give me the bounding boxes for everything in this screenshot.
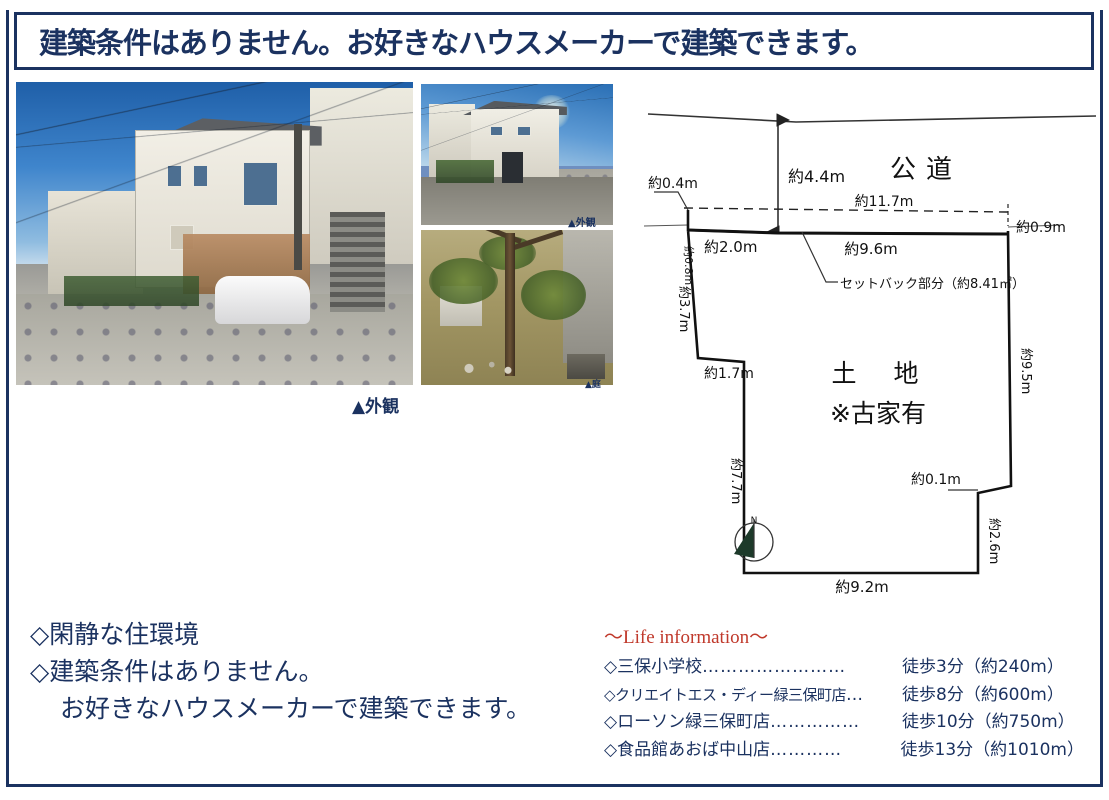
photo-foliage <box>521 270 586 320</box>
life-info-dots: …………… <box>770 709 860 737</box>
feature-item: ◇建築条件はありません。 <box>30 653 570 690</box>
dim-left-step: 約1.7m <box>704 366 754 382</box>
photo-power-lines <box>16 82 413 270</box>
dim-right-vert-lower: 約2.6m <box>986 518 1001 564</box>
life-info-place: ◇クリエイトエス・ディー緑三保町店 <box>604 683 846 707</box>
header-title: 建築条件はありません。お好きなハウスメーカーで建築できます。 <box>39 20 874 62</box>
life-info-row: ◇三保小学校 …………………… 徒歩3分（約240m） <box>604 654 1084 682</box>
dim-left-vert-lower: 約7.7m <box>728 458 743 504</box>
page-border-left <box>6 10 9 787</box>
life-info-row: ◇ローソン緑三保町店 …………… 徒歩10分（約750m） <box>604 709 1084 737</box>
page-border-right <box>1100 10 1103 787</box>
site-plan-diagram: N 公道 約4.4m 約11.7m 約0.4m 約0.8m 約2.0m 約9.6… <box>626 86 1096 606</box>
feature-item: ◇閑静な住環境 <box>30 616 570 653</box>
features-list: ◇閑静な住環境 ◇建築条件はありません。 お好きなハウスメーカーで建築できます。 <box>30 616 570 727</box>
label-public-road: 公道 <box>890 155 962 185</box>
life-info-place: ◇ローソン緑三保町店 <box>604 709 770 737</box>
life-info-place: ◇食品館あおば中山店 <box>604 737 770 765</box>
dim-right-top-vert: 約0.9m <box>1016 220 1066 236</box>
header-banner: 建築条件はありません。お好きなハウスメーカーで建築できます。 <box>14 12 1094 70</box>
caption-exterior-front: ▲外観 <box>568 214 596 229</box>
dim-left-upper-vert: 約0.8m <box>682 246 696 285</box>
dim-front-right: 約9.6m <box>844 240 897 258</box>
life-info-dots: ………… <box>770 737 842 765</box>
life-info-walk-time: 徒歩3分（約240m） <box>902 654 1084 682</box>
flyer-page: 建築条件はありません。お好きなハウスメーカーで建築できます。 ▲外観 <box>0 0 1109 800</box>
dim-leader-04 <box>654 192 688 210</box>
photo-hedge <box>64 276 199 306</box>
caption-exterior-main: ▲外観 <box>352 392 399 417</box>
dim-front-left: 約2.0m <box>704 238 757 256</box>
life-info-walk-time: 徒歩8分（約600m） <box>902 682 1084 710</box>
photo-power-lines <box>421 84 613 171</box>
page-border-bottom <box>6 784 1103 787</box>
photo-garden-view <box>421 230 613 385</box>
label-setback: セットバック部分（約8.41㎡） <box>840 277 1025 292</box>
life-info-place: ◇三保小学校 <box>604 654 702 682</box>
setback-dashed-line <box>684 208 1008 212</box>
label-land-line1: 土 地 <box>831 359 924 388</box>
life-information-title: ～Life information～ <box>604 622 1084 649</box>
photo-tree-trunk <box>505 233 515 376</box>
dim-road-width: 約4.4m <box>788 167 845 186</box>
dim-top-left-diag: 約0.4m <box>648 176 698 192</box>
life-information-section: ～Life information～ ◇三保小学校 …………………… 徒歩3分（… <box>604 622 1084 764</box>
life-info-row: ◇食品館あおば中山店 ………… 徒歩13分（約1010m） <box>604 737 1084 765</box>
photo-exterior-street-view <box>16 82 413 385</box>
dim-right-vert-main: 約9.5m <box>1018 348 1033 394</box>
life-info-walk-time: 徒歩13分（約1010m） <box>901 737 1084 765</box>
photo-planter <box>567 354 605 379</box>
life-info-dots: … <box>846 682 864 710</box>
dim-left-vert-upper: 約3.7m <box>676 286 691 332</box>
photo-garden-debris <box>456 357 521 376</box>
dim-road-frontage: 約11.7m <box>855 194 914 210</box>
dim-right-notch: 約0.1m <box>911 472 961 488</box>
road-far-boundary <box>648 114 1096 122</box>
life-info-walk-time: 徒歩10分（約750m） <box>902 709 1084 737</box>
life-info-dots: …………………… <box>702 654 846 682</box>
feature-item: お好きなハウスメーカーで建築できます。 <box>30 690 570 727</box>
caption-garden: ▲庭 <box>585 377 601 390</box>
photo-car <box>215 276 310 324</box>
label-land-line2: ※古家有 <box>830 399 926 428</box>
guide-line-left <box>644 225 688 226</box>
compass-label: N <box>751 516 758 526</box>
land-parcel-outline <box>688 210 1011 573</box>
dim-bottom: 約9.2m <box>835 578 888 596</box>
photo-exterior-front-view <box>421 84 613 225</box>
life-info-row: ◇クリエイトエス・ディー緑三保町店 … 徒歩8分（約600m） <box>604 682 1084 710</box>
